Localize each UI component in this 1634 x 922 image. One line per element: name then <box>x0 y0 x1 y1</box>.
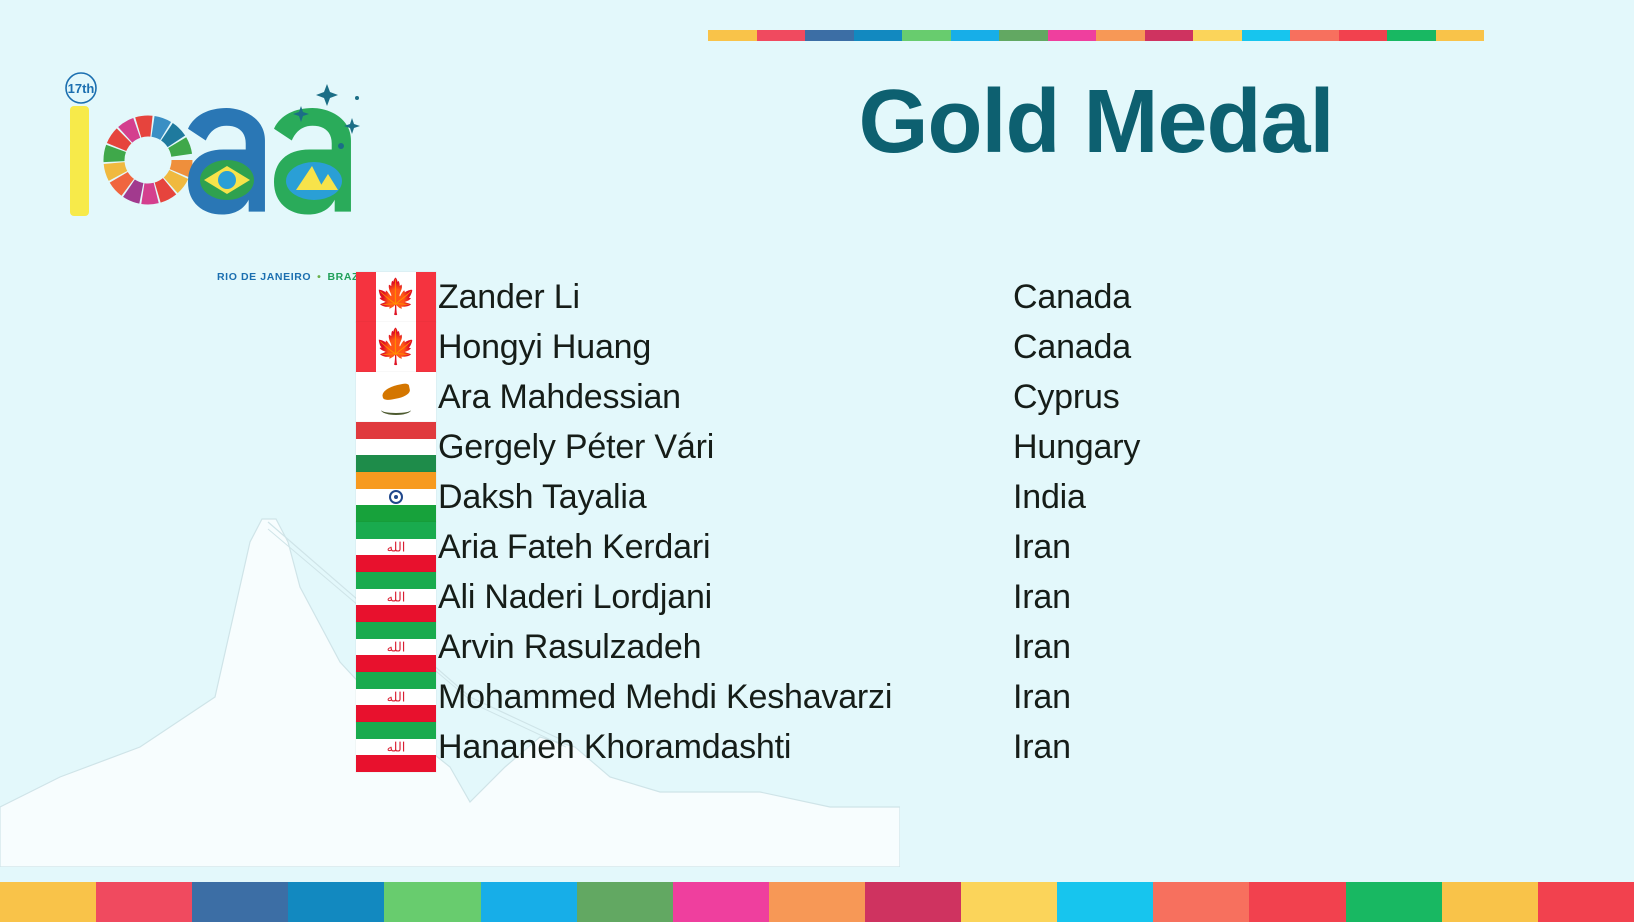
participant-country: Iran <box>1013 628 1071 667</box>
color-bar-segment <box>1387 30 1436 41</box>
flag-canada-icon: 🍁 <box>356 272 436 322</box>
color-bar-segment <box>1442 882 1538 922</box>
top-color-bar <box>708 30 1484 41</box>
color-bar-segment <box>1538 882 1634 922</box>
color-bar-segment <box>1193 30 1242 41</box>
ioaa-logo-graphic: 17th <box>52 72 362 222</box>
participant-name: Zander Li <box>438 278 1013 317</box>
flag-cell: الله <box>356 672 438 722</box>
cyprus-island-icon <box>381 383 411 402</box>
participant-country: Cyprus <box>1013 378 1120 417</box>
flag-canada-icon: 🍁 <box>356 322 436 372</box>
color-bar-segment <box>865 882 961 922</box>
iran-emblem-icon: الله <box>387 541 406 554</box>
flag-cell: الله <box>356 622 438 672</box>
participant-country: Canada <box>1013 328 1131 367</box>
color-bar-segment <box>1346 882 1442 922</box>
flag-cell <box>356 472 438 522</box>
color-bar-segment <box>769 882 865 922</box>
flag-cell <box>356 372 438 422</box>
logo-edition-badge: 17th <box>68 81 95 96</box>
color-bar-segment <box>1048 30 1097 41</box>
color-bar-segment <box>673 882 769 922</box>
color-bar-segment <box>0 882 96 922</box>
participant-name: Aria Fateh Kerdari <box>438 528 1013 567</box>
table-row: اللهHananeh KhoramdashtiIran <box>356 722 1140 772</box>
iran-emblem-icon: الله <box>387 741 406 754</box>
color-bar-segment <box>288 882 384 922</box>
ioaa-logo: 17th <box>52 72 362 222</box>
table-row: اللهMohammed Mehdi KeshavarziIran <box>356 672 1140 722</box>
color-bar-segment <box>96 882 192 922</box>
color-bar-segment <box>1436 30 1485 41</box>
flag-cell: الله <box>356 522 438 572</box>
color-bar-segment <box>1145 30 1194 41</box>
color-bar-segment <box>951 30 1000 41</box>
participant-name: Ara Mahdessian <box>438 378 1013 417</box>
flag-cell: 🍁 <box>356 272 438 322</box>
participant-name: Daksh Tayalia <box>438 478 1013 517</box>
participant-name: Gergely Péter Vári <box>438 428 1013 467</box>
logo-o-ring <box>114 126 182 194</box>
iran-emblem-icon: الله <box>387 641 406 654</box>
color-bar-segment <box>1153 882 1249 922</box>
table-row: Ara MahdessianCyprus <box>356 372 1140 422</box>
iran-emblem-icon: الله <box>387 691 406 704</box>
ashoka-chakra-icon <box>389 490 403 504</box>
color-bar-segment <box>708 30 757 41</box>
participant-country: Iran <box>1013 528 1071 567</box>
maple-leaf-icon: 🍁 <box>375 330 417 364</box>
table-row: Daksh TayaliaIndia <box>356 472 1140 522</box>
color-bar-segment <box>192 882 288 922</box>
color-bar-segment <box>757 30 806 41</box>
flag-iran-icon: الله <box>356 622 436 672</box>
participant-country: Iran <box>1013 678 1071 717</box>
color-bar-segment <box>961 882 1057 922</box>
color-bar-segment <box>577 882 673 922</box>
olive-branch-icon <box>381 405 411 415</box>
flag-cell: 🍁 <box>356 322 438 372</box>
logo-letter-a-sugarloaf <box>274 108 351 215</box>
participant-name: Ali Naderi Lordjani <box>438 578 1013 617</box>
participant-name: Arvin Rasulzadeh <box>438 628 1013 667</box>
flag-cell: الله <box>356 572 438 622</box>
color-bar-segment <box>1290 30 1339 41</box>
flag-india-icon <box>356 472 436 522</box>
color-bar-segment <box>805 30 854 41</box>
participant-name: Hongyi Huang <box>438 328 1013 367</box>
participant-country: India <box>1013 478 1086 517</box>
participant-name: Hananeh Khoramdashti <box>438 728 1013 767</box>
slide-canvas: 17th <box>0 0 1634 922</box>
flag-cell: الله <box>356 722 438 772</box>
participant-country: Iran <box>1013 578 1071 617</box>
table-row: 🍁Hongyi HuangCanada <box>356 322 1140 372</box>
medal-winners-table: 🍁Zander LiCanada🍁Hongyi HuangCanadaAra M… <box>356 272 1140 772</box>
color-bar-segment <box>1057 882 1153 922</box>
page-title: Gold Medal <box>708 75 1484 170</box>
color-bar-segment <box>1242 30 1291 41</box>
participant-name: Mohammed Mehdi Keshavarzi <box>438 678 1013 717</box>
flag-iran-icon: الله <box>356 722 436 772</box>
flag-cyprus-icon <box>356 372 436 422</box>
logo-caption-city: RIO DE JANEIRO <box>217 271 311 283</box>
participant-country: Iran <box>1013 728 1071 767</box>
color-bar-segment <box>1249 882 1345 922</box>
table-row: Gergely Péter VáriHungary <box>356 422 1140 472</box>
table-row: اللهAria Fateh KerdariIran <box>356 522 1140 572</box>
color-bar-segment <box>384 882 480 922</box>
logo-letter-a-brazil <box>188 108 265 215</box>
flag-iran-icon: الله <box>356 572 436 622</box>
logo-caption-separator: • <box>311 271 327 283</box>
bottom-color-bar <box>0 882 1634 922</box>
color-bar-segment <box>999 30 1048 41</box>
table-row: 🍁Zander LiCanada <box>356 272 1140 322</box>
table-row: اللهAli Naderi LordjaniIran <box>356 572 1140 622</box>
table-row: اللهArvin RasulzadehIran <box>356 622 1140 672</box>
maple-leaf-icon: 🍁 <box>375 280 417 314</box>
flag-cell <box>356 422 438 472</box>
flag-iran-icon: الله <box>356 522 436 572</box>
color-bar-segment <box>481 882 577 922</box>
flag-hungary-icon <box>356 422 436 472</box>
flag-iran-icon: الله <box>356 672 436 722</box>
participant-country: Hungary <box>1013 428 1140 467</box>
color-bar-segment <box>854 30 903 41</box>
color-bar-segment <box>1096 30 1145 41</box>
iran-emblem-icon: الله <box>387 591 406 604</box>
color-bar-segment <box>1339 30 1388 41</box>
participant-country: Canada <box>1013 278 1131 317</box>
color-bar-segment <box>902 30 951 41</box>
